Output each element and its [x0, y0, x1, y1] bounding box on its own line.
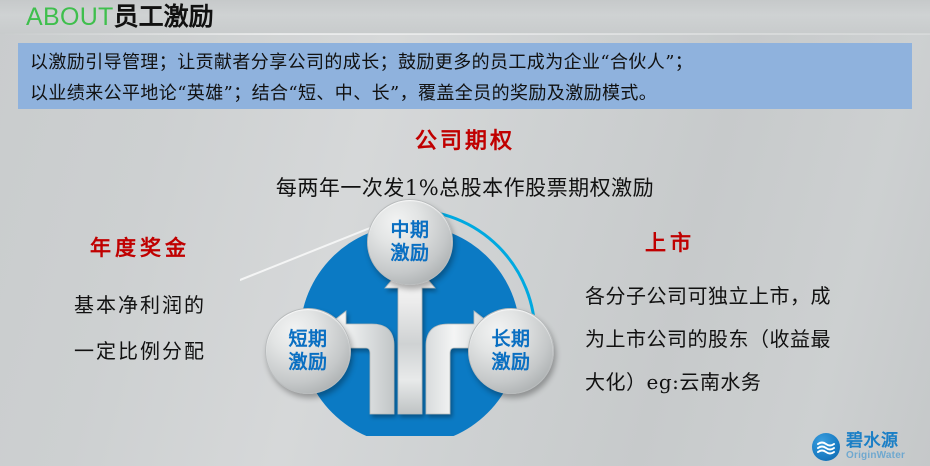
annual-bonus-line-1: 基本净利润的 — [30, 282, 250, 328]
page-title-english: ABOUT — [26, 3, 114, 31]
annual-bonus-line-2: 一定比例分配 — [30, 328, 250, 374]
company-options-title: 公司期权 — [0, 123, 930, 155]
annual-bonus-block: 年度奖金 基本净利润的 一定比例分配 — [30, 232, 250, 374]
bubble-long-line-1: 长期 — [491, 328, 530, 351]
intro-line-2: 以业绩来公平地论“英雄”；结合“短、中、长”，覆盖全员的奖励及激励模式。 — [30, 78, 900, 109]
ipo-line-1: 各分子公司可独立上市，成 — [585, 275, 925, 318]
company-logo: 碧水源 OriginWater — [812, 432, 922, 462]
logo-name-en: OriginWater — [846, 451, 905, 461]
ipo-block: 上市 各分子公司可独立上市，成 为上市公司的股东（收益最 大化）eg:云南水务 — [585, 227, 925, 404]
bubble-short-term-incentive[interactable]: 短期 激励 — [265, 308, 351, 394]
intro-line-1: 以激励引导管理；让贡献者分享公司的成长；鼓励更多的员工成为企业“合伙人”； — [30, 47, 900, 78]
bubble-short-line-2: 激励 — [288, 351, 327, 374]
incentive-diagram: 中期 激励 短期 激励 长期 激励 — [240, 196, 580, 436]
bubble-mid-term-incentive[interactable]: 中期 激励 — [367, 199, 453, 285]
page-title: ABOUT员工激励 — [26, 1, 214, 33]
logo-text: 碧水源 OriginWater — [846, 433, 905, 461]
ipo-line-3: 大化）eg:云南水务 — [585, 361, 925, 404]
bubble-mid-line-2: 激励 — [390, 242, 429, 265]
ipo-title: 上市 — [585, 227, 925, 257]
logo-name-cn: 碧水源 — [846, 433, 905, 450]
ipo-line-2: 为上市公司的股东（收益最 — [585, 318, 925, 361]
slide-canvas: ABOUT员工激励 以激励引导管理；让贡献者分享公司的成长；鼓励更多的员工成为企… — [0, 0, 930, 466]
intro-text-box: 以激励引导管理；让贡献者分享公司的成长；鼓励更多的员工成为企业“合伙人”； 以业… — [18, 43, 912, 109]
bubble-mid-line-1: 中期 — [390, 219, 429, 242]
annual-bonus-title: 年度奖金 — [30, 232, 250, 262]
title-divider — [0, 33, 930, 35]
bubble-short-line-1: 短期 — [288, 328, 327, 351]
water-wave-icon — [812, 433, 840, 461]
bubble-long-term-incentive[interactable]: 长期 激励 — [468, 308, 554, 394]
bubble-long-line-2: 激励 — [491, 351, 530, 374]
page-title-chinese: 员工激励 — [114, 2, 214, 31]
wave-glyph — [812, 433, 840, 461]
